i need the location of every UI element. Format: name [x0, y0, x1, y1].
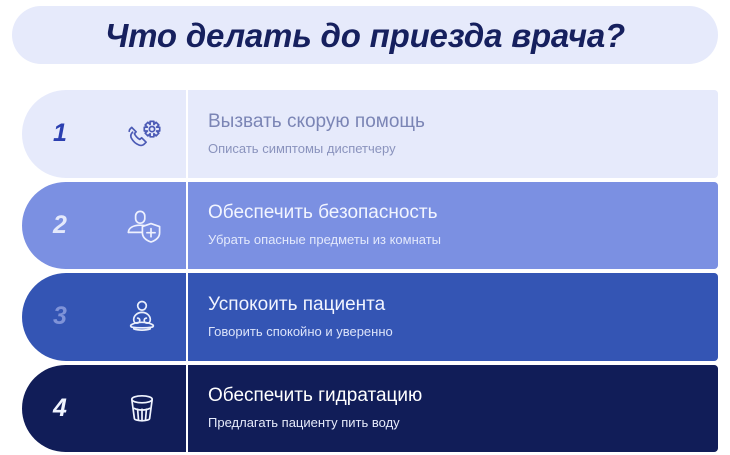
step-row[interactable]: 1 Вызвать скорую помощь Описать симптомы… — [22, 90, 718, 178]
step-number: 1 — [22, 121, 98, 146]
step-body: Успокоить пациента Говорить спокойно и у… — [188, 273, 718, 361]
step-subtitle: Убрать опасные предметы из комнаты — [208, 233, 718, 248]
step-left-cap: 1 — [22, 90, 186, 178]
step-number: 3 — [22, 304, 98, 329]
person-shield-plus-icon — [98, 203, 186, 247]
water-glass-icon — [98, 386, 186, 430]
step-left-cap: 4 — [22, 365, 186, 453]
step-row[interactable]: 4 Обеспечить г — [22, 365, 718, 453]
step-number: 2 — [22, 213, 98, 238]
steps-list: 1 Вызвать скорую помощь Описать симптомы… — [22, 90, 718, 452]
infographic-root: Что делать до приезда врача? 1 Вы — [0, 0, 730, 455]
step-subtitle: Предлагать пациенту пить воду — [208, 416, 718, 431]
step-row[interactable]: 3 Успокоить пациента — [22, 273, 718, 361]
step-body: Обеспечить безопасность Убрать опасные п… — [188, 182, 718, 270]
step-title: Обеспечить безопасность — [208, 202, 718, 224]
step-left-cap: 3 — [22, 273, 186, 361]
page-title: Что делать до приезда врача? — [105, 19, 625, 52]
phone-medical-icon — [98, 112, 186, 156]
step-title: Успокоить пациента — [208, 294, 718, 316]
step-subtitle: Говорить спокойно и уверенно — [208, 325, 718, 340]
step-row[interactable]: 2 Обеспечить б — [22, 182, 718, 270]
step-left-cap: 2 — [22, 182, 186, 270]
step-number: 4 — [22, 396, 98, 421]
step-title: Вызвать скорую помощь — [208, 111, 718, 133]
meditating-person-icon — [98, 295, 186, 339]
step-title: Обеспечить гидратацию — [208, 385, 718, 407]
step-body: Обеспечить гидратацию Предлагать пациент… — [188, 365, 718, 453]
step-subtitle: Описать симптомы диспетчеру — [208, 142, 718, 157]
step-body: Вызвать скорую помощь Описать симптомы д… — [188, 90, 718, 178]
title-banner: Что делать до приезда врача? — [12, 6, 718, 64]
